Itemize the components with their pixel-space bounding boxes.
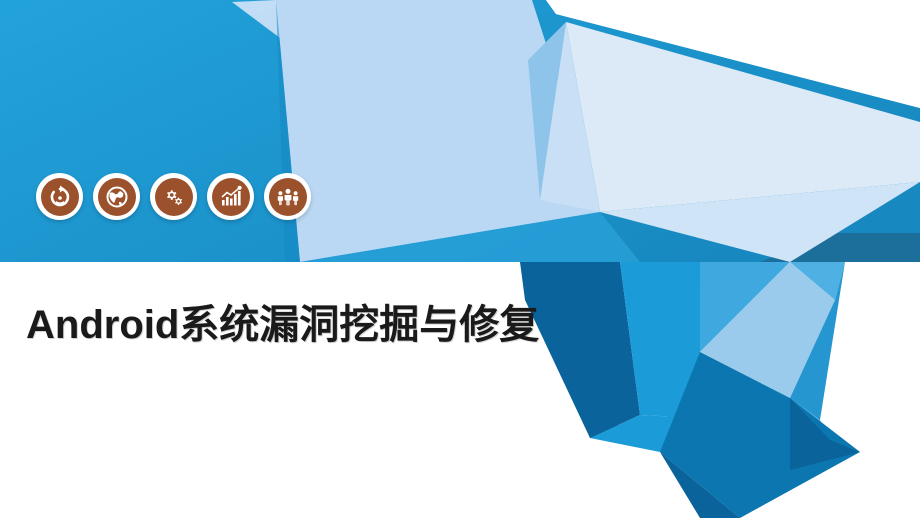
bar-chart-icon [212,178,250,216]
slide-tagline: 数智创新 变革未来 [719,26,902,47]
globe-icon [98,178,136,216]
icon-badge-recycle[interactable] [36,173,83,220]
icon-badge-globe[interactable] [93,173,140,220]
icon-badge-people[interactable] [264,173,311,220]
people-group-icon [269,178,307,216]
page-title: Android系统漏洞挖掘与修复 [26,296,556,354]
icon-row [36,173,311,220]
recycle-arrow-icon [41,178,79,216]
gears-icon [155,178,193,216]
polygon-background-graphic [0,0,920,518]
icon-badge-chart[interactable] [207,173,254,220]
presentation-slide: 数智创新 变革未来 [0,0,920,518]
icon-badge-gears[interactable] [150,173,197,220]
